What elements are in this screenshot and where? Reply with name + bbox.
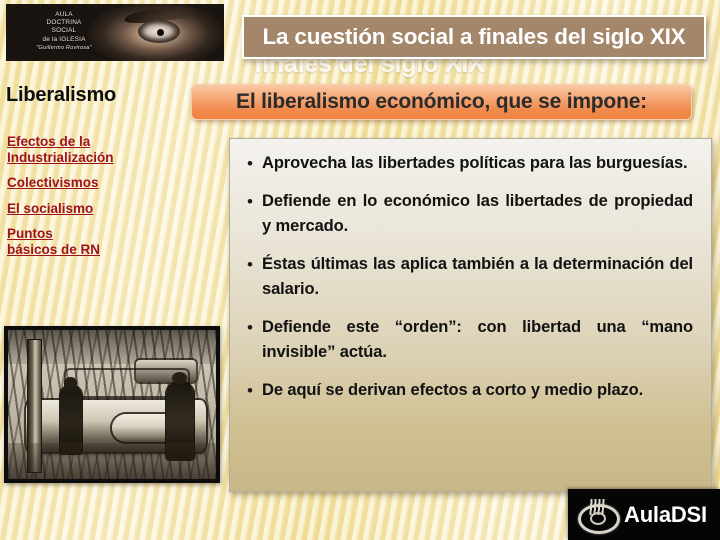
emblem-core-shape [590,512,606,525]
bullet-text-5: De aquí se derivan efectos a corto y med… [262,378,699,403]
sidebar-item-efectos[interactable]: Efectos de la Industrialización [7,134,207,165]
logo-line-5: "Guillermo Rovirosa" [22,44,106,52]
bullet-item: • Defiende en lo económico las libertade… [238,189,699,239]
sidebar-item-efectos-line1: Efectos de la [7,134,90,149]
slide-title-box: La cuestión social a finales del siglo X… [242,15,706,59]
subtitle-box: El liberalismo económico, que se impone: [191,84,692,120]
factory-engraving-image [4,326,220,483]
bullet-marker-icon: • [238,151,262,176]
bullet-text-2: Defiende en lo económico las libertades … [262,189,699,239]
sidebar-item-puntos-line1: Puntos [7,226,53,241]
subtitle-text: El liberalismo económico, que se impone: [236,90,647,114]
logo-line-3: SOCIAL [22,27,106,35]
logo-line-1: AULA [22,11,106,19]
logo-line-4: de la IGLESIA [22,36,106,44]
sidebar-item-colectivismos[interactable]: Colectivismos [7,175,207,191]
aula-logo-text: AULA DOCTRINA SOCIAL de la IGLESIA "Guil… [22,11,106,52]
bullet-text-4: Defiende este “orden”: con libertad una … [262,315,699,365]
auladsi-emblem-icon [574,498,618,532]
slide-title: La cuestión social a finales del siglo X… [263,24,686,50]
engraving-inner [8,330,216,479]
sidebar-item-puntos-line2: básicos de RN [7,242,207,258]
auladsi-logo: AulaDSI [568,489,720,540]
bullet-item: • Éstas últimas las aplica también a la … [238,252,699,302]
slide-canvas: AULA DOCTRINA SOCIAL de la IGLESIA "Guil… [0,0,720,540]
content-box: • Aprovecha las libertades políticas par… [229,138,712,492]
sidebar-item-colectivismos-label: Colectivismos [7,175,99,190]
section-heading: Liberalismo [6,84,116,107]
pupil-shape [157,29,164,36]
bullet-item: • Aprovecha las libertades políticas par… [238,151,699,176]
bullet-text-1: Aprovecha las libertades políticas para … [262,151,699,176]
aula-banner-image: AULA DOCTRINA SOCIAL de la IGLESIA "Guil… [6,4,224,61]
sidebar-item-socialismo[interactable]: El socialismo [7,201,207,217]
bullet-text-3: Éstas últimas las aplica también a la de… [262,252,699,302]
bullet-marker-icon: • [238,315,262,340]
bullet-marker-icon: • [238,252,262,277]
bullet-marker-icon: • [238,378,262,403]
bullet-marker-icon: • [238,189,262,214]
sidebar-nav: Efectos de la Industrialización Colectiv… [7,134,207,267]
bullet-item: • De aquí se derivan efectos a corto y m… [238,378,699,403]
engraving-floor-shadow [8,443,216,479]
sidebar-item-puntos[interactable]: Puntos básicos de RN [7,226,207,257]
sidebar-item-socialismo-label: El socialismo [7,201,93,216]
auladsi-wordmark: AulaDSI [624,502,707,528]
sidebar-item-efectos-line2: Industrialización [7,150,207,166]
bullet-item: • Defiende este “orden”: con libertad un… [238,315,699,365]
